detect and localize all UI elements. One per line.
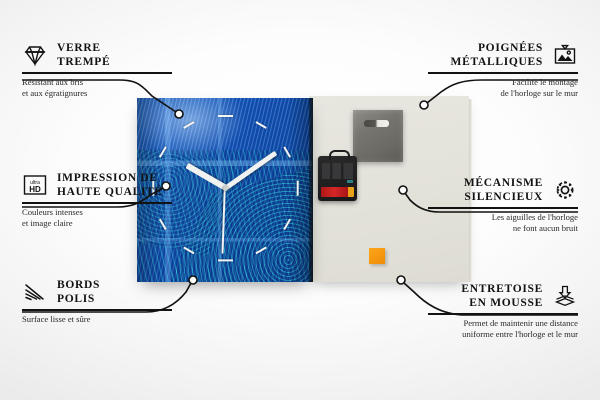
feature-heading: VERRE TREMPÉ (22, 41, 172, 69)
feature-title: MÉCANISME SILENCIEUX (464, 176, 543, 204)
feature-description: Couleurs intenses et image claire (22, 207, 172, 229)
ultra-hd-icon: ultra HD (22, 173, 48, 197)
feature-rule (428, 207, 578, 209)
feature-title: BORDS POLIS (57, 278, 100, 306)
feature-rule (22, 202, 172, 204)
feature-heading: ultra HD IMPRESSION DE HAUTE QUALITÉ (22, 171, 172, 199)
feature-heading: POIGNÉES MÉTALLIQUES (428, 41, 578, 69)
infographic-canvas: VERRE TREMPÉ Résistant aux bris et aux é… (0, 0, 600, 400)
feature-title: IMPRESSION DE HAUTE QUALITÉ (57, 171, 163, 199)
connector-dot-bords-polis (189, 276, 197, 284)
feature-description: Résistant aux bris et aux égratignures (22, 77, 172, 99)
feature-entretoise-en-mousse: ENTRETOISE EN MOUSSE Permet de maintenir… (428, 282, 578, 340)
feature-poignees-metalliques: POIGNÉES MÉTALLIQUES Facilite le montage… (428, 41, 578, 99)
feature-description: Surface lisse et sûre (22, 314, 172, 325)
feature-heading: BORDS POLIS (22, 278, 172, 306)
feature-rule (22, 309, 172, 311)
connector-dot-entretoise (397, 276, 405, 284)
feature-description: Les aiguilles de l'horloge ne font aucun… (428, 212, 578, 234)
gear-icon (552, 178, 578, 202)
feature-title: ENTRETOISE EN MOUSSE (461, 282, 543, 310)
feature-description: Facilite le montage de l'horloge sur le … (428, 77, 578, 99)
feature-heading: MÉCANISME SILENCIEUX (428, 176, 578, 204)
feature-rule (428, 72, 578, 74)
connector-dot-mecanisme (399, 186, 407, 194)
feature-mecanisme-silencieux: MÉCANISME SILENCIEUX Les aiguilles de l'… (428, 176, 578, 234)
feature-heading: ENTRETOISE EN MOUSSE (428, 282, 578, 310)
connector-dot-poignees (420, 101, 428, 109)
svg-text:HD: HD (29, 185, 41, 194)
feature-verre-trempe: VERRE TREMPÉ Résistant aux bris et aux é… (22, 41, 172, 99)
feature-title: VERRE TREMPÉ (57, 41, 110, 69)
feature-rule (428, 313, 578, 315)
picture-frame-hanger-icon (552, 43, 578, 67)
feature-description: Permet de maintenir une distance uniform… (428, 318, 578, 340)
feature-rule (22, 72, 172, 74)
connector-dot-verre-trempe (175, 110, 183, 118)
feature-bords-polis: BORDS POLIS Surface lisse et sûre (22, 278, 172, 325)
feature-impression-haute-qualite: ultra HD IMPRESSION DE HAUTE QUALITÉ Cou… (22, 171, 172, 229)
foam-spacer-press-icon (552, 284, 578, 308)
diamond-icon (22, 43, 48, 67)
polished-edges-icon (22, 280, 48, 304)
feature-title: POIGNÉES MÉTALLIQUES (451, 41, 543, 69)
